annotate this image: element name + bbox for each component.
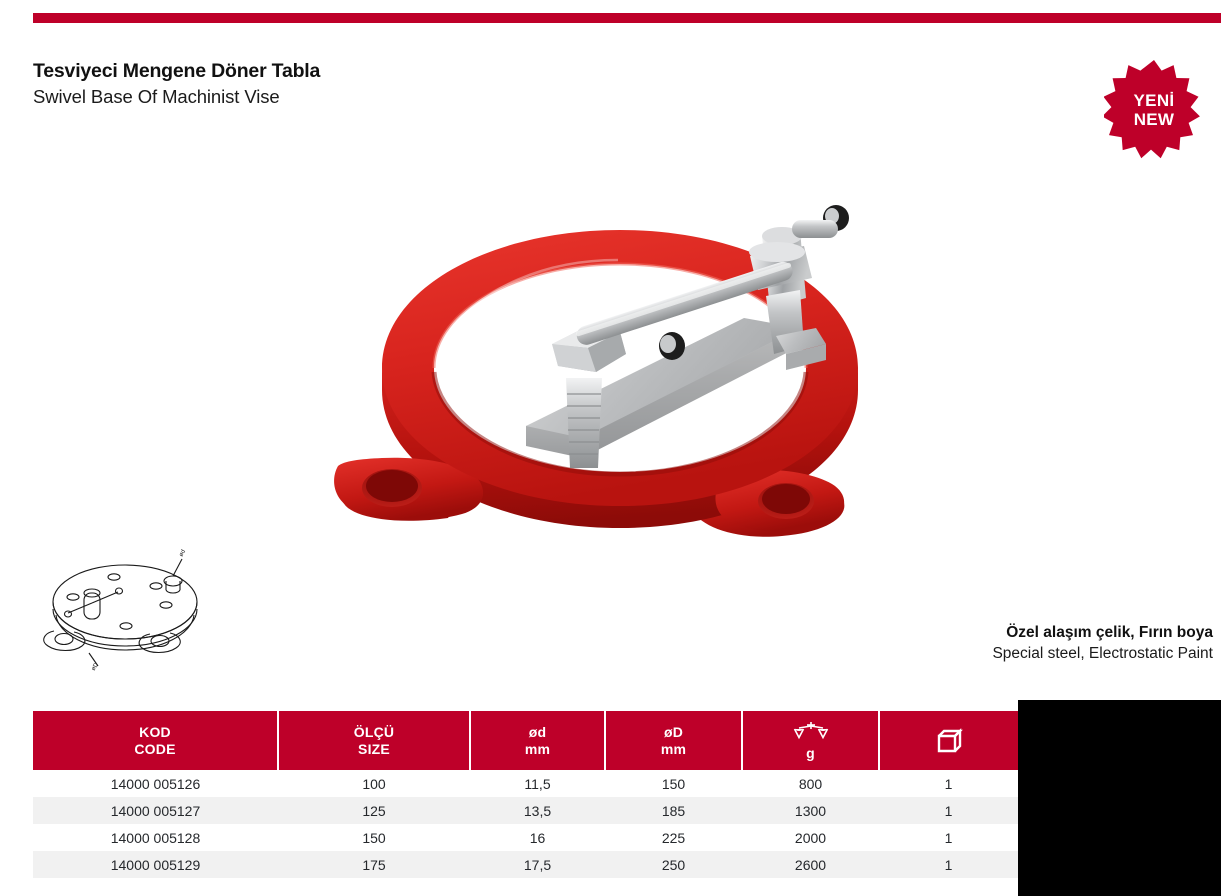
cell-small-diameter: 13,5 bbox=[470, 797, 605, 824]
column-header-small-diameter-symbol: ød bbox=[471, 724, 604, 741]
callout-small-diameter: ød bbox=[178, 549, 187, 558]
column-header-code-tr: KOD bbox=[33, 724, 277, 741]
table-row: 14000 005129 175 17,5 250 2600 1 bbox=[33, 851, 1018, 878]
material-text-tr: Özel alaşım çelik, Fırın boya bbox=[992, 622, 1213, 643]
technical-drawing: ød øD bbox=[32, 545, 222, 675]
cell-pack: 1 bbox=[879, 824, 1018, 851]
cell-pack: 1 bbox=[879, 770, 1018, 797]
material-text-en: Special steel, Electrostatic Paint bbox=[992, 643, 1213, 664]
cell-code: 14000 005128 bbox=[33, 824, 278, 851]
page-title: Tesviyeci Mengene Döner Tabla Swivel Bas… bbox=[33, 58, 733, 110]
column-header-size-en: SIZE bbox=[279, 741, 469, 758]
black-overlay-block bbox=[1018, 700, 1221, 896]
cell-pack: 1 bbox=[879, 797, 1018, 824]
balance-scale-icon bbox=[793, 720, 829, 744]
cell-size: 125 bbox=[278, 797, 470, 824]
product-title-en: Swivel Base Of Machinist Vise bbox=[33, 84, 733, 110]
column-header-size: ÖLÇÜ SIZE bbox=[278, 711, 470, 770]
table-body: 14000 005126 100 11,5 150 800 1 14000 00… bbox=[33, 770, 1018, 878]
cell-weight: 2000 bbox=[742, 824, 879, 851]
column-header-pack bbox=[879, 711, 1018, 770]
cell-size: 150 bbox=[278, 824, 470, 851]
cell-code: 14000 005127 bbox=[33, 797, 278, 824]
box-icon bbox=[935, 727, 963, 755]
swivel-base-photo-icon bbox=[330, 168, 900, 553]
cell-small-diameter: 11,5 bbox=[470, 770, 605, 797]
table-row: 14000 005127 125 13,5 185 1300 1 bbox=[33, 797, 1018, 824]
cell-large-diameter: 225 bbox=[605, 824, 742, 851]
column-header-small-diameter: ød mm bbox=[470, 711, 605, 770]
starburst-badge-icon bbox=[1104, 60, 1204, 160]
material-note: Özel alaşım çelik, Fırın boya Special st… bbox=[992, 622, 1213, 664]
cell-weight: 2600 bbox=[742, 851, 879, 878]
table-row: 14000 005126 100 11,5 150 800 1 bbox=[33, 770, 1018, 797]
product-photo bbox=[330, 168, 900, 553]
cell-large-diameter: 250 bbox=[605, 851, 742, 878]
product-title-tr: Tesviyeci Mengene Döner Tabla bbox=[33, 58, 733, 84]
cell-large-diameter: 185 bbox=[605, 797, 742, 824]
column-header-small-diameter-unit: mm bbox=[471, 741, 604, 758]
cell-code: 14000 005126 bbox=[33, 770, 278, 797]
cell-small-diameter: 16 bbox=[470, 824, 605, 851]
specification-table: KOD CODE ÖLÇÜ SIZE ød mm øD mm bbox=[33, 711, 1018, 878]
cell-size: 175 bbox=[278, 851, 470, 878]
column-header-weight-unit: g bbox=[743, 745, 878, 762]
cell-code: 14000 005129 bbox=[33, 851, 278, 878]
cell-pack: 1 bbox=[879, 851, 1018, 878]
cell-weight: 1300 bbox=[742, 797, 879, 824]
column-header-code-en: CODE bbox=[33, 741, 277, 758]
cell-size: 100 bbox=[278, 770, 470, 797]
cell-small-diameter: 17,5 bbox=[470, 851, 605, 878]
table-header-row: KOD CODE ÖLÇÜ SIZE ød mm øD mm bbox=[33, 711, 1018, 770]
column-header-code: KOD CODE bbox=[33, 711, 278, 770]
swivel-base-technical-drawing-icon: ød øD bbox=[32, 545, 222, 675]
column-header-large-diameter: øD mm bbox=[605, 711, 742, 770]
new-badge: YENİ NEW bbox=[1104, 60, 1204, 160]
top-accent-rule bbox=[33, 13, 1221, 23]
column-header-large-diameter-symbol: øD bbox=[606, 724, 741, 741]
table-row: 14000 005128 150 16 225 2000 1 bbox=[33, 824, 1018, 851]
callout-large-diameter: øD bbox=[91, 662, 101, 673]
column-header-weight: g bbox=[742, 711, 879, 770]
column-header-large-diameter-unit: mm bbox=[606, 741, 741, 758]
cell-weight: 800 bbox=[742, 770, 879, 797]
cell-large-diameter: 150 bbox=[605, 770, 742, 797]
column-header-size-tr: ÖLÇÜ bbox=[279, 724, 469, 741]
